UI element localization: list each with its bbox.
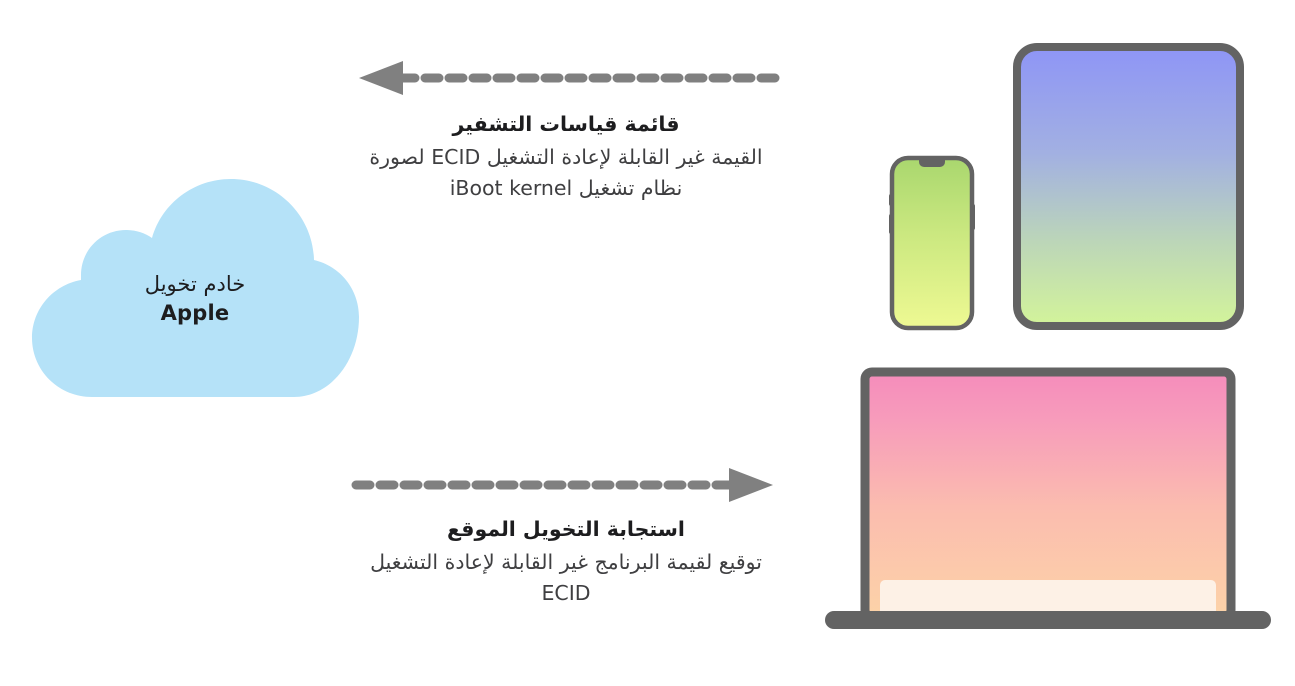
request-callout-body: القيمة غير القابلة لإعادة التشغيل ECID ل… [356,142,776,204]
response-callout-title: استجابة التخويل الموقع [346,515,786,545]
iphone-device [888,156,976,330]
response-arrow [356,463,776,507]
request-callout: قائمة قياسات التشفير القيمة غير القابلة … [356,110,776,204]
response-callout: استجابة التخويل الموقع توقيع لقيمة البرن… [346,515,786,609]
cloud-label-line-2: Apple [30,299,360,328]
apple-authorization-cloud: خادم تخويل Apple [30,178,360,398]
ipad-device [1013,43,1244,330]
dashed-arrow-right-icon [356,463,776,507]
macbook-device [818,368,1278,634]
request-callout-title: قائمة قياسات التشفير [356,110,776,140]
iphone-icon [888,156,976,330]
cloud-label: خادم تخويل Apple [30,270,360,328]
request-arrow [356,56,776,100]
ipad-icon [1013,43,1244,330]
dashed-arrow-left-icon [356,56,776,100]
diagram-canvas: خادم تخويل Apple قائمة قياسات التشفير ال… [0,0,1295,686]
cloud-label-line-1: خادم تخويل [30,270,360,299]
response-callout-body: توقيع لقيمة البرنامج غير القابلة لإعادة … [346,547,786,609]
macbook-icon [818,368,1278,634]
